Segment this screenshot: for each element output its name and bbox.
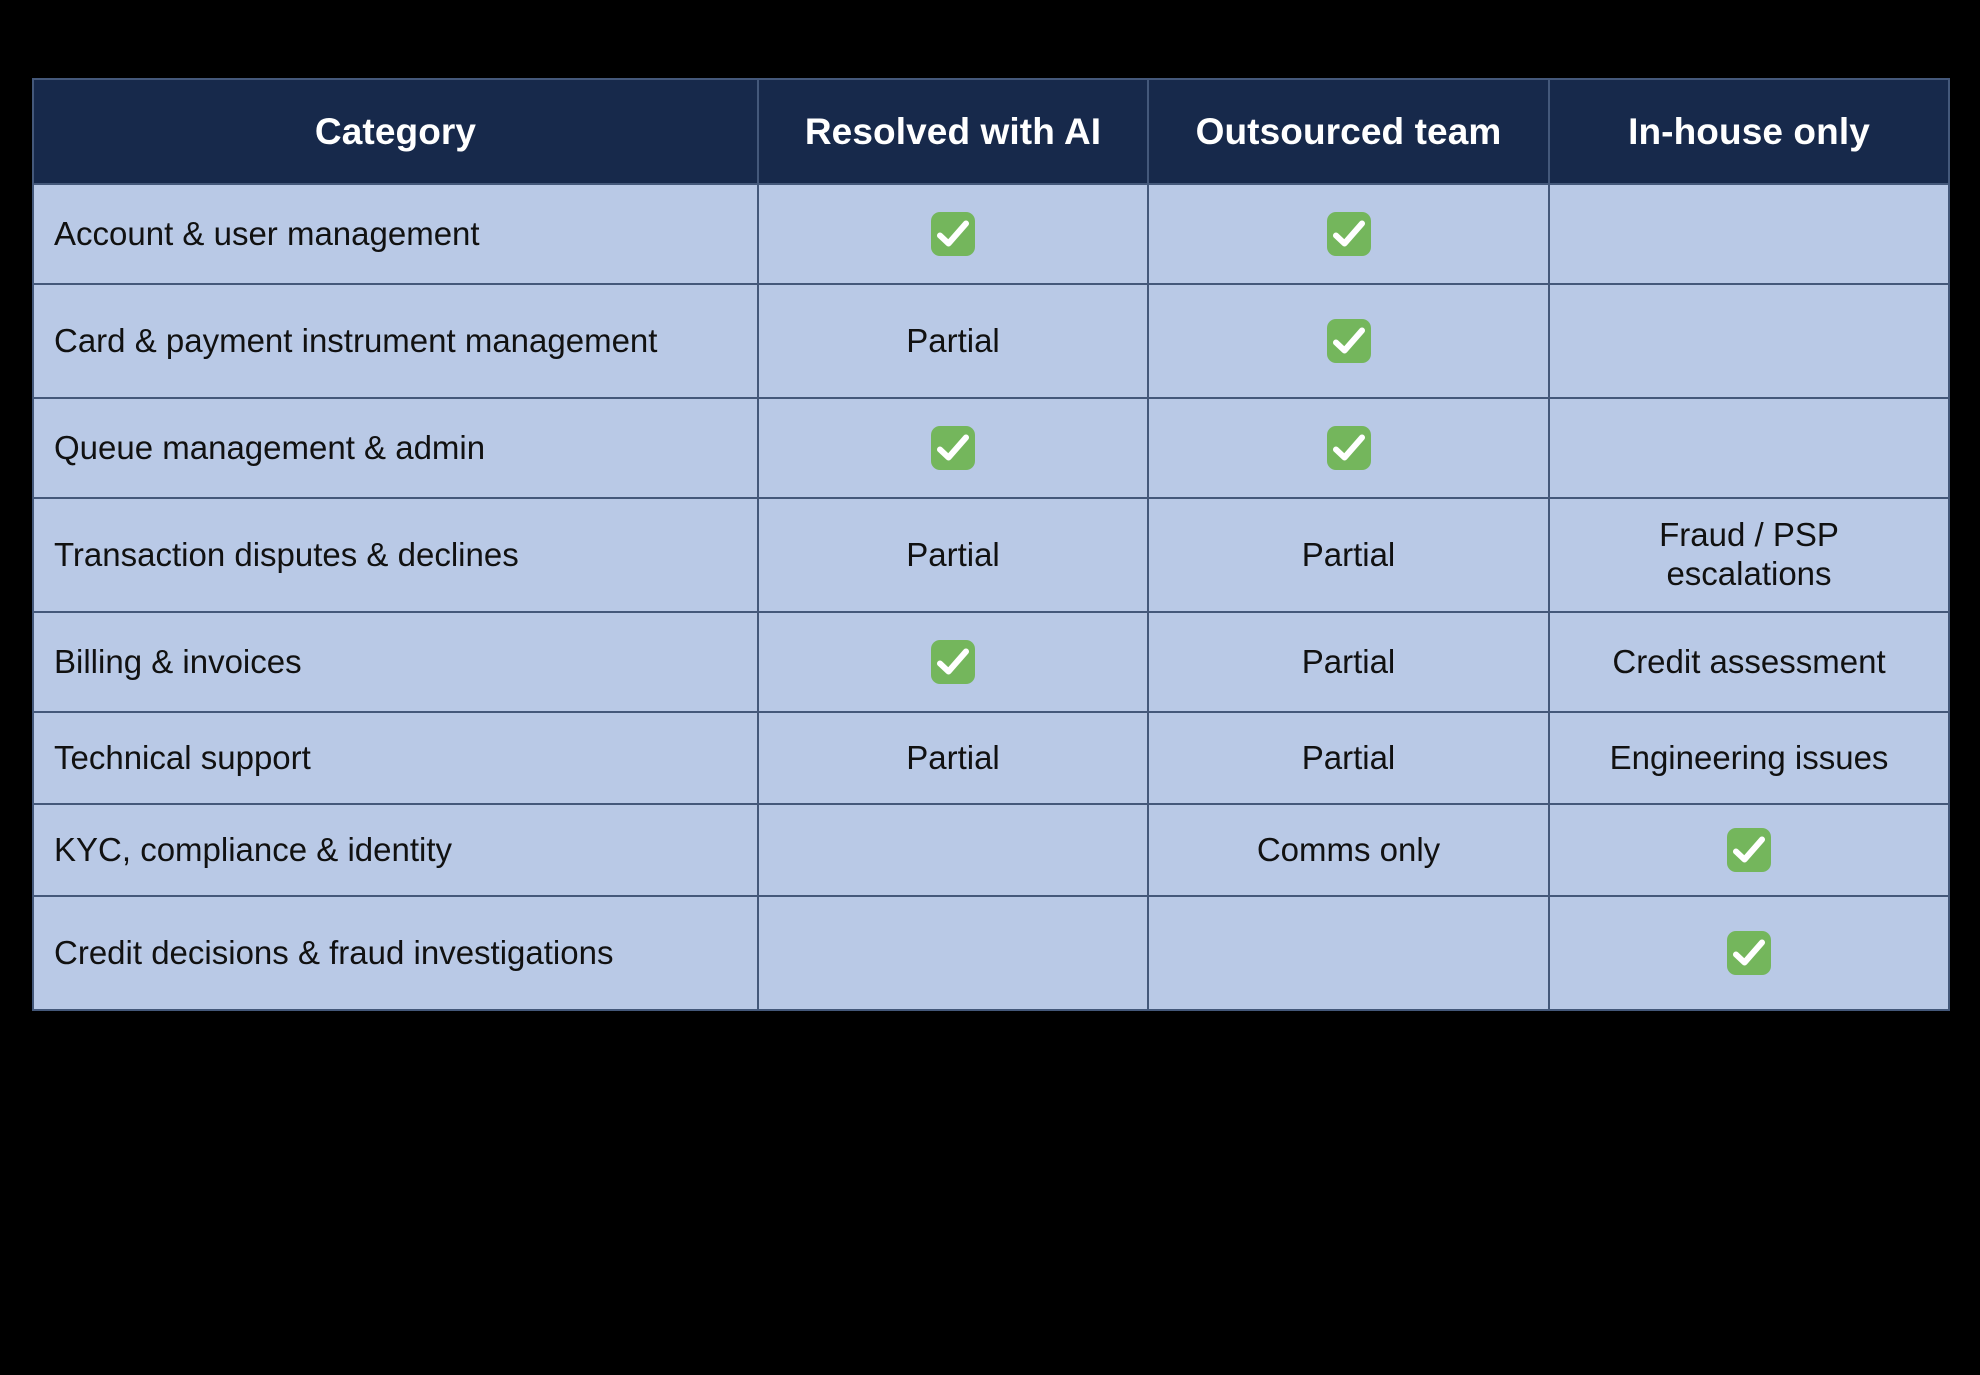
cell-value: Partial [1159,536,1538,575]
check-icon [931,640,975,684]
cell-inhouse [1549,284,1949,398]
category-label: Queue management & admin [54,429,729,468]
cell-inhouse: Credit assessment [1549,612,1949,712]
cell-value: Partial [769,739,1137,778]
screenshot-canvas: Category Resolved with AI Outsourced tea… [0,0,1980,1375]
cell-value: Partial [1159,643,1538,682]
support-coverage-table: Category Resolved with AI Outsourced tea… [32,78,1950,1011]
cell-value: Partial [1159,739,1538,778]
table-row: Queue management & admin [33,398,1949,498]
category-label: KYC, compliance & identity [54,831,729,870]
cell-category: Account & user management [33,184,758,284]
column-header-outsourced-team[interactable]: Outsourced team [1148,79,1549,184]
cell-ai [758,612,1148,712]
cell-value: Credit assessment [1560,643,1938,682]
table-row: KYC, compliance & identityComms only [33,804,1949,896]
check-icon [1327,426,1371,470]
table-row: Account & user management [33,184,1949,284]
cell-ai: Partial [758,284,1148,398]
cell-ai [758,184,1148,284]
cell-outsourced [1148,284,1549,398]
table-row: Technical supportPartialPartialEngineeri… [33,712,1949,804]
cell-outsourced: Comms only [1148,804,1549,896]
cell-ai: Partial [758,498,1148,612]
table-row: Card & payment instrument managementPart… [33,284,1949,398]
cell-outsourced: Partial [1148,712,1549,804]
cell-category: KYC, compliance & identity [33,804,758,896]
cell-outsourced: Partial [1148,612,1549,712]
check-icon [931,426,975,470]
table-row: Billing & invoicesPartialCredit assessme… [33,612,1949,712]
cell-outsourced [1148,398,1549,498]
cell-ai [758,398,1148,498]
category-label: Account & user management [54,215,729,254]
cell-outsourced [1148,184,1549,284]
category-label: Card & payment instrument management [54,322,729,361]
cell-value: Partial [769,536,1137,575]
cell-category: Card & payment instrument management [33,284,758,398]
category-label: Credit decisions & fraud investigations [54,934,729,973]
cell-outsourced [1148,896,1549,1010]
column-header-category[interactable]: Category [33,79,758,184]
cell-inhouse [1549,184,1949,284]
category-label: Technical support [54,739,729,778]
cell-category: Queue management & admin [33,398,758,498]
check-icon [1327,319,1371,363]
column-header-in-house-only[interactable]: In-house only [1549,79,1949,184]
category-label: Billing & invoices [54,643,729,682]
check-icon [1727,931,1771,975]
category-label: Transaction disputes & declines [54,536,729,575]
comparison-table-container: Category Resolved with AI Outsourced tea… [32,78,1948,1011]
table-body: Account & user managementCard & payment … [33,184,1949,1010]
column-header-resolved-with-ai[interactable]: Resolved with AI [758,79,1148,184]
table-header: Category Resolved with AI Outsourced tea… [33,79,1949,184]
cell-value: Comms only [1159,831,1538,870]
check-icon [931,212,975,256]
cell-inhouse [1549,398,1949,498]
cell-value: Partial [769,322,1137,361]
cell-inhouse [1549,804,1949,896]
check-icon [1727,828,1771,872]
header-row: Category Resolved with AI Outsourced tea… [33,79,1949,184]
cell-category: Billing & invoices [33,612,758,712]
cell-value: Fraud / PSP escalations [1560,516,1938,594]
cell-value: Engineering issues [1560,739,1938,778]
cell-category: Transaction disputes & declines [33,498,758,612]
check-icon [1327,212,1371,256]
cell-inhouse: Engineering issues [1549,712,1949,804]
cell-inhouse: Fraud / PSP escalations [1549,498,1949,612]
table-row: Transaction disputes & declinesPartialPa… [33,498,1949,612]
cell-ai: Partial [758,712,1148,804]
table-row: Credit decisions & fraud investigations [33,896,1949,1010]
cell-ai [758,804,1148,896]
cell-inhouse [1549,896,1949,1010]
cell-outsourced: Partial [1148,498,1549,612]
cell-category: Technical support [33,712,758,804]
cell-category: Credit decisions & fraud investigations [33,896,758,1010]
cell-ai [758,896,1148,1010]
